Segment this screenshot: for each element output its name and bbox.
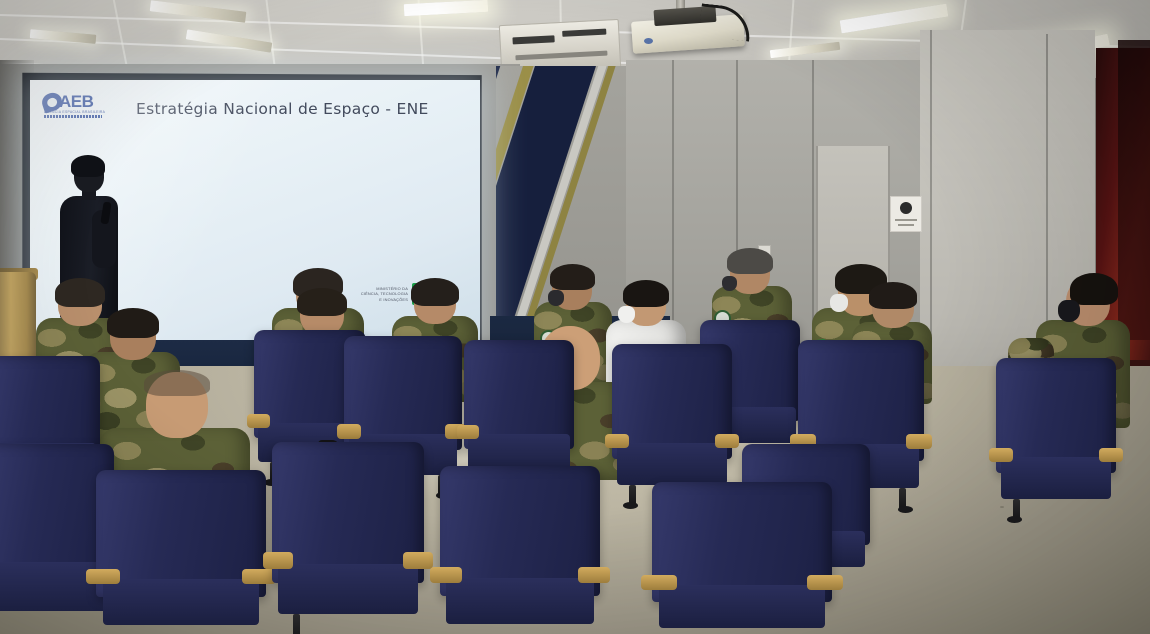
chair-back — [344, 336, 462, 450]
ceiling-light — [840, 4, 949, 34]
chair-armrest — [263, 552, 293, 570]
chair-back — [798, 340, 924, 461]
chair-seat — [278, 564, 418, 615]
chair-armrest — [989, 448, 1013, 462]
chair[interactable] — [272, 442, 424, 634]
aeb-acronym: AEB — [59, 92, 93, 112]
hair — [727, 248, 773, 274]
auditorium-scene: AEB AGENCIA ESPACIAL BRASILEIRA Estratég… — [0, 0, 1150, 634]
chair-back — [0, 356, 100, 457]
ac-vent — [512, 35, 554, 44]
face-mask — [722, 276, 737, 291]
chair-armrest — [337, 424, 361, 438]
projector-lens — [644, 38, 653, 44]
chair-back — [612, 344, 732, 459]
hair — [550, 264, 595, 290]
chair[interactable] — [440, 466, 600, 634]
chair-armrest — [906, 434, 931, 449]
chair-seat — [1001, 457, 1111, 499]
chair[interactable] — [96, 470, 266, 634]
hair — [411, 278, 459, 306]
chair-armrest — [715, 434, 739, 448]
chair-seat — [617, 443, 727, 485]
ceiling-light — [404, 0, 489, 16]
hair — [107, 308, 159, 338]
chair-armrest — [807, 575, 843, 590]
notice-symbol-icon — [900, 202, 912, 214]
face-mask — [1058, 300, 1080, 322]
chair-armrest — [641, 575, 677, 590]
chair-armrest — [247, 414, 269, 428]
aeb-subtitle: AGENCIA ESPACIAL BRASILEIRA — [44, 110, 105, 114]
aeb-logo: AEB AGENCIA ESPACIAL BRASILEIRA — [42, 92, 108, 120]
hair — [297, 288, 347, 316]
chair-leg — [293, 614, 300, 634]
chair-back — [652, 482, 832, 602]
hair — [1070, 273, 1118, 305]
hair — [623, 280, 669, 307]
chair[interactable] — [612, 344, 732, 504]
chair-armrest — [430, 567, 462, 583]
chair-seat — [659, 585, 825, 628]
chair-seat — [103, 579, 259, 625]
chair-armrest — [403, 552, 433, 570]
hair — [55, 278, 105, 307]
chair-back — [272, 442, 424, 583]
face-mask — [548, 290, 564, 306]
chair-back — [96, 470, 266, 597]
slide-title: Estratégia Nacional de Espaço - ENE — [136, 100, 429, 118]
hair — [144, 370, 210, 396]
wall-notice-sign — [890, 196, 922, 232]
ceiling-light — [770, 42, 840, 58]
chair[interactable] — [652, 482, 832, 634]
ceiling-light — [186, 29, 273, 52]
aeb-logo-bar — [44, 115, 102, 118]
face-mask — [830, 294, 848, 312]
ac-vent — [562, 29, 606, 37]
chair-armrest — [605, 434, 629, 448]
presenter-hair — [71, 155, 105, 177]
chair[interactable] — [996, 358, 1116, 518]
notice-text-line — [898, 224, 914, 226]
chair-armrest — [1099, 448, 1123, 462]
face-mask — [618, 306, 635, 323]
chair-armrest — [457, 425, 479, 439]
chair-back — [996, 358, 1116, 473]
chair-armrest — [578, 567, 610, 583]
chair-seat — [446, 578, 593, 625]
notice-text-line — [895, 219, 917, 221]
chair-back — [464, 340, 574, 449]
ac-vent — [515, 51, 607, 61]
chair-armrest — [86, 569, 120, 585]
hair — [869, 282, 917, 309]
chair-back — [440, 466, 600, 596]
